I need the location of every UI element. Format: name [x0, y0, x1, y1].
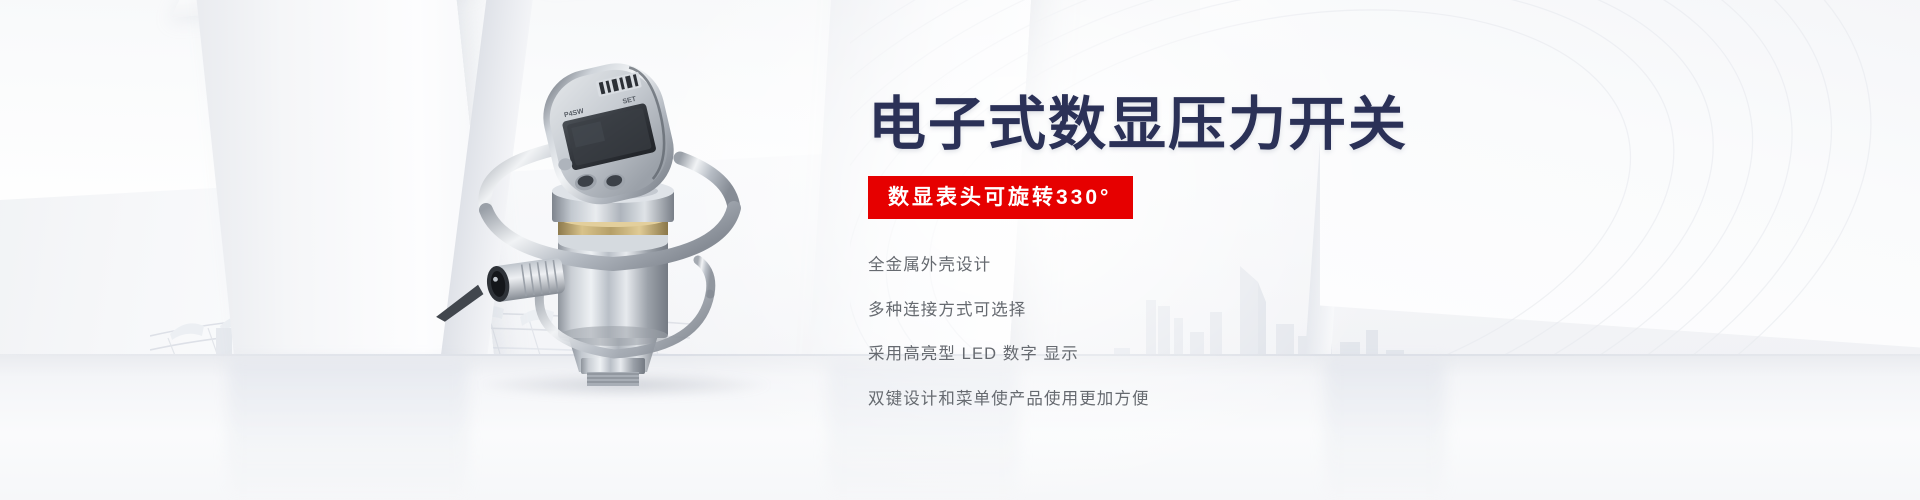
- product-body: [558, 234, 668, 346]
- feature-item: 采用高亮型 LED 数字 显示: [868, 346, 1768, 363]
- m12-connector: [430, 257, 567, 323]
- feature-item: 全金属外壳设计: [868, 257, 1768, 274]
- product-banner: P4SW SET 电子式: [0, 0, 1920, 500]
- banner-title: 电子式数显压力开关: [868, 96, 1768, 154]
- product-image-pressure-switch: P4SW SET: [448, 58, 778, 388]
- feature-item: 多种连接方式可选择: [868, 302, 1768, 319]
- floor-reflection-left: [228, 360, 468, 500]
- feature-item: 双键设计和菜单使产品使用更加方便: [868, 391, 1768, 408]
- banner-copy: 电子式数显压力开关 数显表头可旋转330° 全金属外壳设计 多种连接方式可选择 …: [868, 96, 1768, 407]
- banner-badge: 数显表头可旋转330°: [868, 176, 1133, 219]
- feature-list: 全金属外壳设计 多种连接方式可选择 采用高亮型 LED 数字 显示 双键设计和菜…: [868, 257, 1768, 407]
